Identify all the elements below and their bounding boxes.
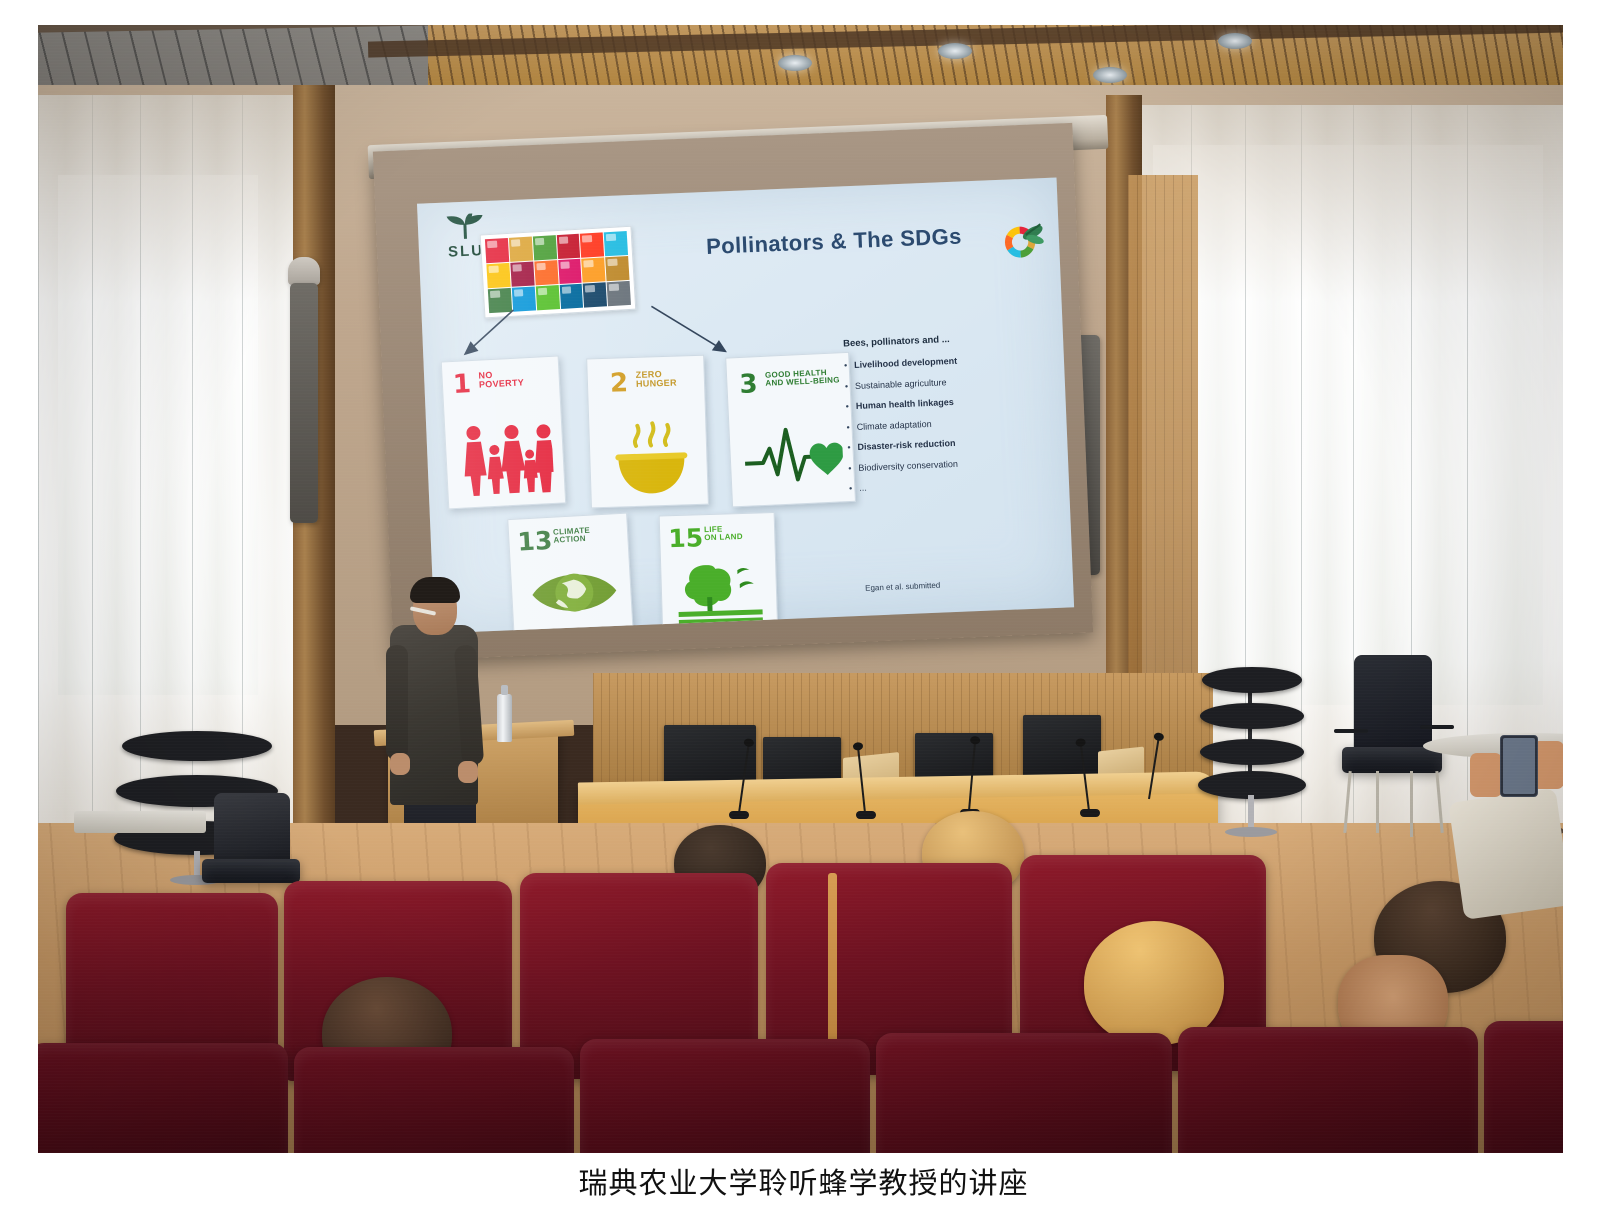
- corona-chair-pad: [1200, 703, 1304, 729]
- image-caption: 瑞典农业大学聆听蜂学教授的讲座: [0, 1160, 1607, 1202]
- bullet-item: •Biodiversity conservation: [848, 454, 1058, 473]
- heartbeat-icon: [741, 415, 844, 494]
- ceiling-downlight: [1218, 33, 1252, 49]
- sdg-grid-tile-2: [509, 237, 533, 262]
- bullet-item: •Livelihood development: [844, 352, 1054, 371]
- sdg-wheel-bee-logo: [998, 214, 1050, 266]
- slide-title: Pollinators & The SDGs: [669, 222, 1000, 262]
- sdg-card-3: 3 GOOD HEALTH AND WELL-BEING: [725, 352, 856, 508]
- sdg-grid-tile-5: [580, 232, 604, 257]
- corona-chair-right: [1196, 663, 1306, 813]
- bullet-dot-icon: •: [844, 360, 848, 370]
- bullet-text: Sustainable agriculture: [855, 377, 947, 391]
- phone-screen: [1503, 738, 1535, 794]
- family-icon: [459, 417, 555, 498]
- sdg-grid-tile-12: [605, 256, 629, 281]
- sdg-grid-tile-7: [486, 263, 510, 288]
- office-chair-seat: [1342, 747, 1442, 773]
- corona-chair-stem: [1248, 795, 1254, 831]
- bullet-text: Human health linkages: [856, 397, 954, 411]
- screenshot-page: SLU Pollinators & The SDGs: [0, 0, 1607, 1231]
- auditorium-seat-front: [1484, 1021, 1563, 1153]
- office-chair-leg: [1410, 771, 1413, 837]
- speaker-hand-left: [390, 753, 410, 775]
- wall-wood-panel-right: [1128, 175, 1198, 735]
- sdg-grid-tile-11: [582, 257, 606, 282]
- sdg-grid-tile-16: [559, 284, 583, 309]
- speaker-hair: [410, 577, 460, 603]
- microphone-base: [729, 811, 749, 819]
- bullet-list-items: •Livelihood development•Sustainable agri…: [844, 352, 1059, 493]
- sdg-card-3-label: GOOD HEALTH AND WELL-BEING: [765, 368, 840, 388]
- sdg-card-2: 2 ZERO HUNGER: [586, 355, 709, 509]
- sdg-card-2-label: ZERO HUNGER: [636, 370, 677, 390]
- arrow-left-icon: [455, 308, 517, 362]
- sdg-goals-grid: [480, 226, 637, 319]
- bullet-text: Climate adaptation: [856, 418, 931, 431]
- corona-chair-pad: [1202, 667, 1302, 693]
- sdg-grid-tile-4: [556, 234, 580, 259]
- ceiling-downlight: [938, 43, 972, 59]
- office-chair-leg: [1376, 771, 1379, 833]
- speaker-arm-left: [386, 645, 408, 760]
- sdg-card-15-label: LIFE ON LAND: [704, 525, 743, 543]
- office-chair-back: [214, 793, 290, 863]
- wall-speaker-left: [288, 257, 320, 285]
- bullet-text: Livelihood development: [854, 356, 957, 370]
- sdg-grid-tile-3: [532, 235, 556, 260]
- wall-speaker-left-body: [290, 283, 318, 523]
- ceiling-downlight: [1093, 67, 1127, 83]
- ceiling-downlight: [778, 55, 812, 71]
- bullet-dot-icon: •: [849, 483, 853, 493]
- bullet-text: Disaster-risk reduction: [857, 438, 955, 452]
- bullet-item: •Human health linkages: [845, 393, 1055, 412]
- office-chair-armrest: [1420, 725, 1454, 729]
- sdg-card-13-label: CLIMATE ACTION: [553, 527, 591, 546]
- office-chair-armrest: [1334, 729, 1368, 733]
- projection-screen: SLU Pollinators & The SDGs: [373, 123, 1093, 661]
- sdg-grid-tile-1: [485, 238, 509, 263]
- sdg-card-15-label-line2: ON LAND: [704, 533, 743, 543]
- sdg-grid-tile-17: [583, 282, 607, 307]
- microphone-base: [1080, 809, 1100, 817]
- bullet-item: •Climate adaptation: [846, 413, 1056, 432]
- sdg-card-15-number: 15: [668, 523, 704, 553]
- corona-chair-pad: [1200, 739, 1304, 765]
- sdg-card-13-label-line2: ACTION: [553, 535, 590, 545]
- bullet-dot-icon: •: [845, 381, 849, 391]
- eye-globe-icon: [529, 562, 620, 623]
- sdg-card-1-label: NO POVERTY: [478, 369, 524, 390]
- hand: [1470, 753, 1502, 797]
- bullet-text: ...: [859, 483, 867, 493]
- bullet-dot-icon: •: [847, 442, 851, 452]
- smartphone: [1500, 735, 1538, 797]
- bullet-item: •Disaster-risk reduction: [847, 434, 1057, 453]
- tree-birds-icon: [675, 557, 765, 626]
- sdg-card-15: 15 LIFE ON LAND: [659, 512, 779, 633]
- bowl-steam-icon: [611, 414, 692, 500]
- bullet-item: •...: [849, 475, 1059, 494]
- side-desk-left: [74, 811, 206, 833]
- sdg-card-3-label-line2: AND WELL-BEING: [765, 377, 840, 389]
- office-chair-seat: [202, 859, 300, 883]
- bullet-list: Bees, pollinators and ... •Livelihood de…: [843, 330, 1060, 504]
- office-chair-leg: [1343, 771, 1351, 833]
- lecture-photo: SLU Pollinators & The SDGs: [38, 25, 1563, 1153]
- auditorium-seat-front: [876, 1033, 1172, 1153]
- sdg-card-13: 13 CLIMATE ACTION: [507, 513, 633, 634]
- sdg-grid-tile-15: [535, 285, 559, 310]
- office-chair-back: [1354, 655, 1432, 751]
- water-bottle: [497, 694, 512, 742]
- bullet-text: Biodiversity conservation: [858, 458, 958, 472]
- sdg-grid-tile-10: [558, 259, 582, 284]
- sdg-card-1-label-line2: POVERTY: [479, 379, 525, 391]
- bullet-dot-icon: •: [848, 463, 852, 473]
- auditorium-seat-front: [38, 1043, 288, 1153]
- sdg-card-2-number: 2: [610, 368, 629, 399]
- sdg-card-1: 1 NO POVERTY: [441, 356, 566, 510]
- bullet-dot-icon: •: [846, 422, 850, 432]
- speaker-hand-right: [458, 761, 478, 783]
- sdg-card-3-number: 3: [739, 369, 758, 400]
- microphone-base: [856, 811, 876, 819]
- slide-citation: Egan et al. submitted: [865, 581, 940, 593]
- corona-chair-pad: [122, 731, 272, 761]
- sdg-card-13-number: 13: [517, 526, 553, 557]
- sdg-grid-tile-6: [604, 231, 628, 256]
- corona-chair-base: [1225, 827, 1277, 837]
- auditorium-seat-front: [294, 1047, 574, 1153]
- presentation-slide: SLU Pollinators & The SDGs: [417, 178, 1074, 634]
- sleeve: [1448, 788, 1563, 920]
- sdg-card-2-label-line2: HUNGER: [636, 379, 677, 390]
- auditorium-seat-front: [580, 1039, 870, 1153]
- sdg-grid-tile-9: [534, 260, 558, 285]
- sdg-grid-tile-8: [510, 262, 534, 287]
- office-chair-leg: [1435, 771, 1443, 833]
- bullet-item: •Sustainable agriculture: [845, 372, 1055, 391]
- sdg-card-1-number: 1: [452, 369, 472, 400]
- auditorium-seat-front: [1178, 1027, 1478, 1153]
- bullet-dot-icon: •: [845, 401, 849, 411]
- sdg-grid-tile-18: [607, 281, 631, 306]
- bullet-list-heading: Bees, pollinators and ...: [843, 330, 1053, 350]
